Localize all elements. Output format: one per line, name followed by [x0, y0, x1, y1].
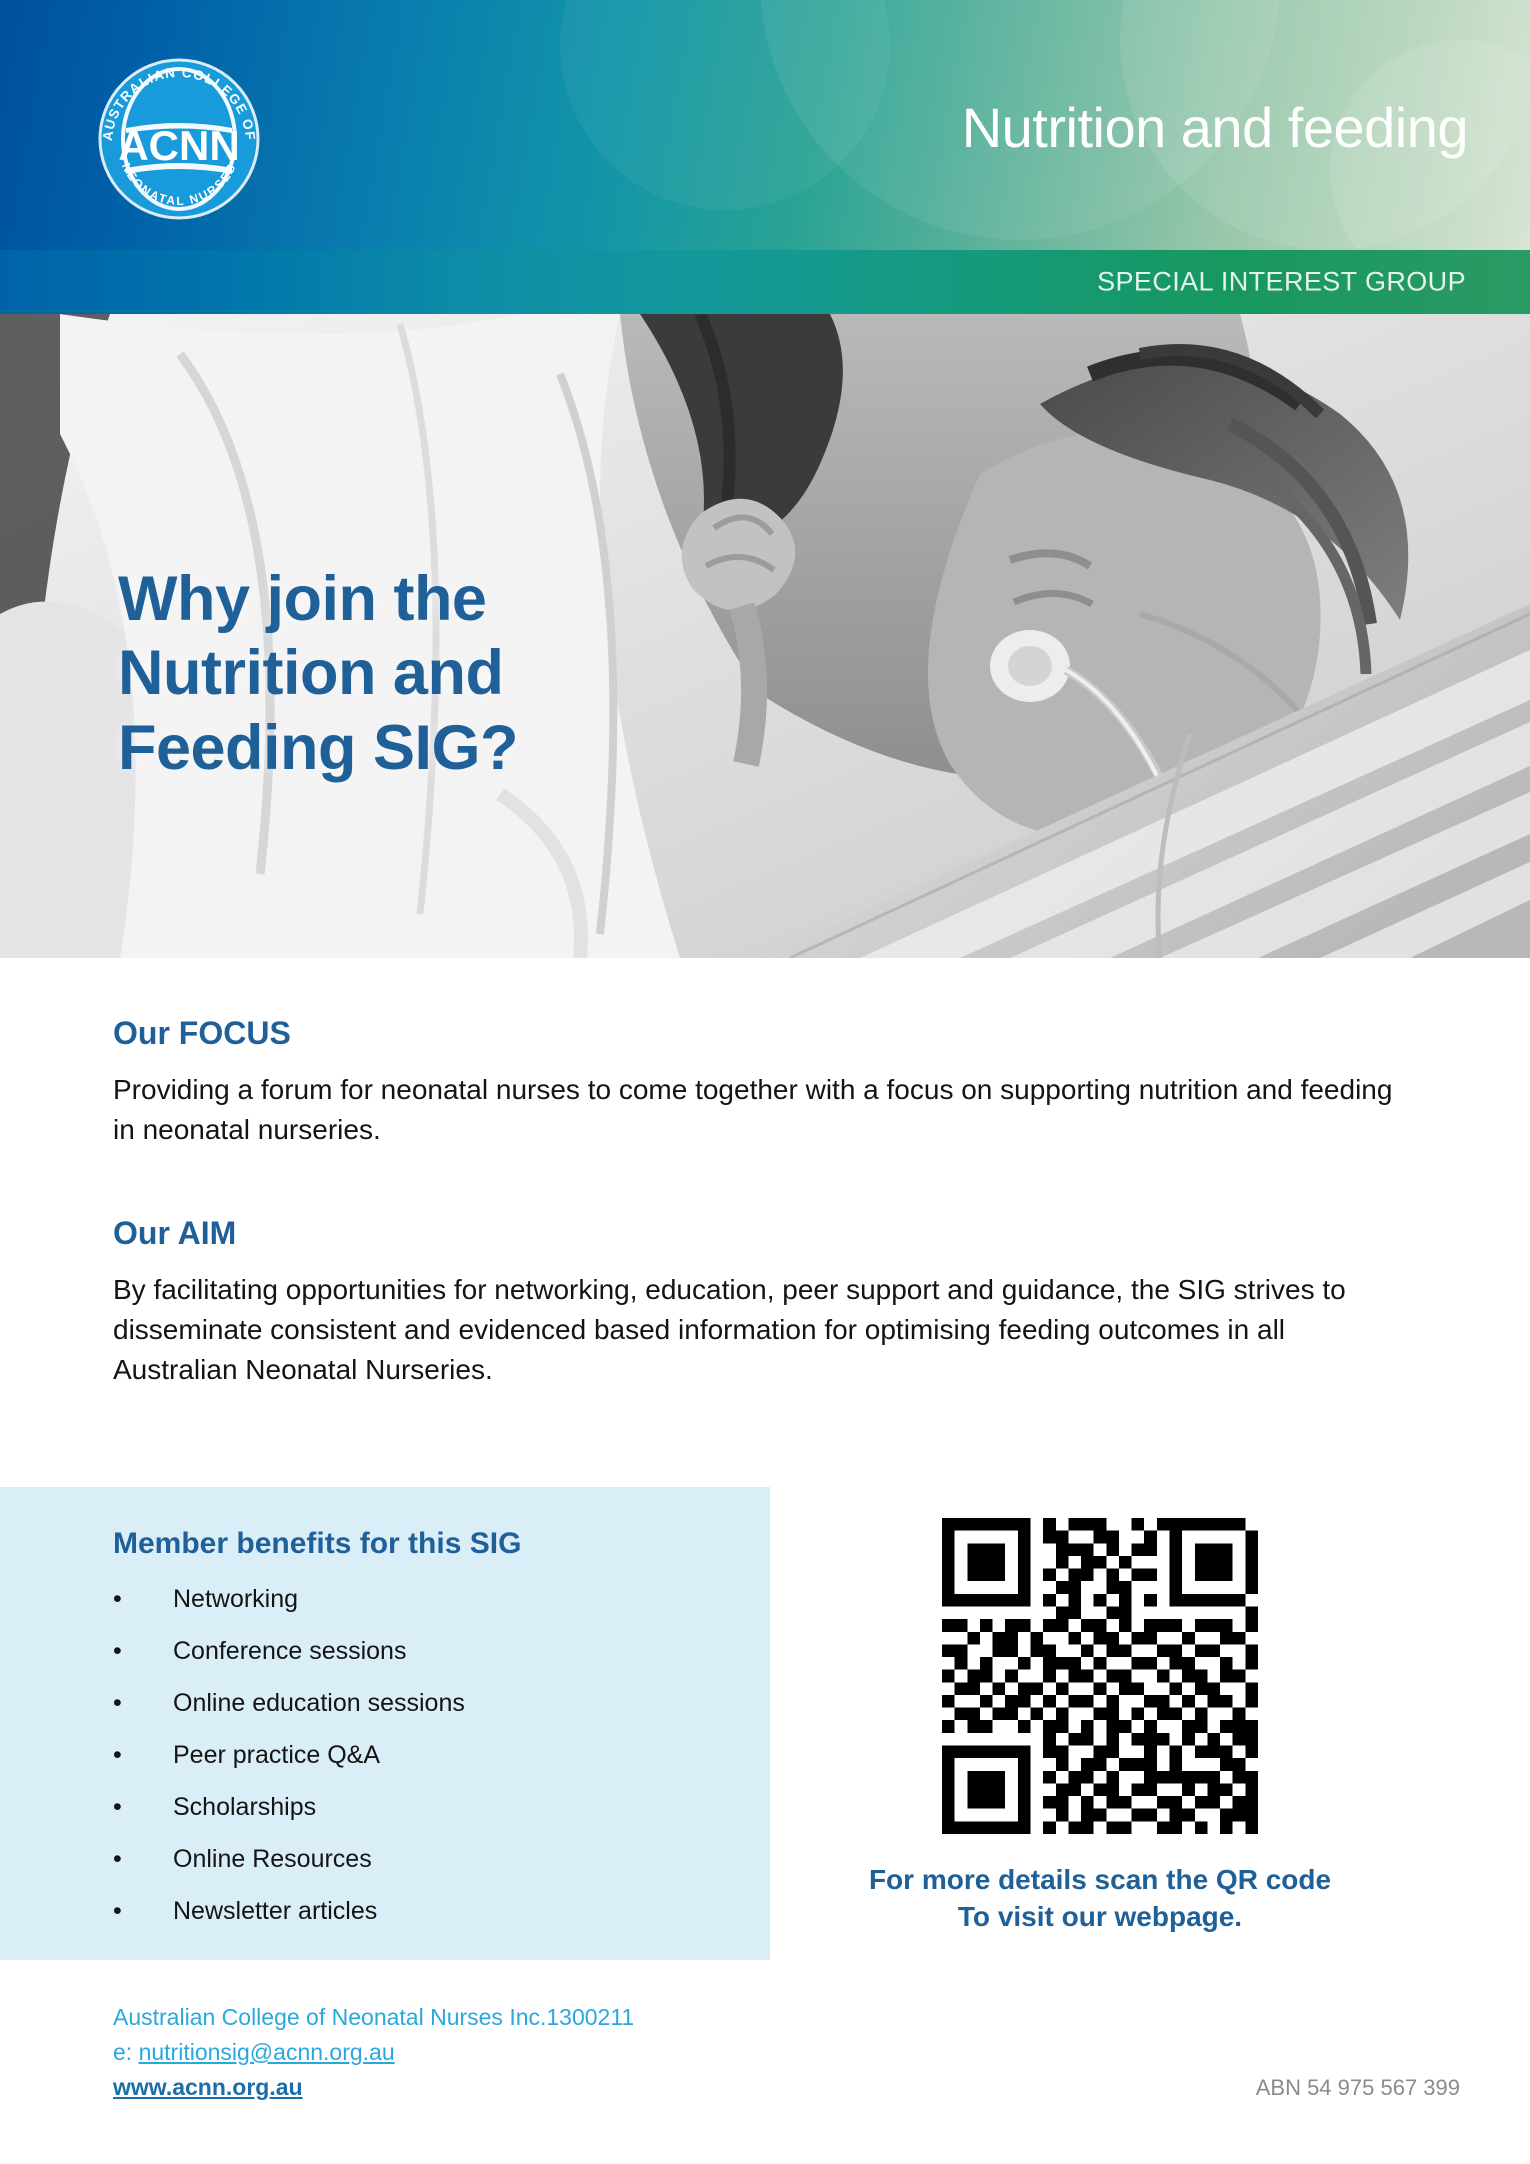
bullet-icon: • — [113, 1743, 122, 1768]
poster-page: AUSTRALIAN COLLEGE OF NEONATAL NURSES AC… — [0, 0, 1530, 2164]
our-focus-heading: Our FOCUS — [113, 1015, 1403, 1052]
section-our-focus: Our FOCUS Providing a forum for neonatal… — [113, 1015, 1403, 1150]
benefit-item-label: Networking — [173, 1585, 298, 1613]
acnn-logo: AUSTRALIAN COLLEGE OF NEONATAL NURSES AC… — [88, 48, 270, 230]
our-aim-body: By facilitating opportunities for networ… — [113, 1270, 1403, 1389]
footer-email-prefix: e: — [113, 2039, 139, 2065]
benefit-item-label: Peer practice Q&A — [173, 1741, 380, 1769]
bullet-icon: • — [113, 1899, 122, 1924]
member-benefits-list: •Networking•Conference sessions•Online e… — [113, 1587, 465, 1951]
qr-caption: For more details scan the QR code To vis… — [760, 1862, 1440, 1936]
svg-text:ACNN: ACNN — [118, 122, 239, 169]
hero-line-1: Why join the — [118, 562, 518, 636]
special-interest-group-band: SPECIAL INTEREST GROUP — [0, 250, 1530, 314]
bullet-icon: • — [113, 1587, 122, 1612]
benefit-item: •Networking — [113, 1587, 465, 1612]
page-header: AUSTRALIAN COLLEGE OF NEONATAL NURSES AC… — [0, 0, 1530, 252]
benefit-item: •Scholarships — [113, 1795, 465, 1820]
footer-website-link[interactable]: www.acnn.org.au — [113, 2074, 303, 2100]
hero-line-3: Feeding SIG? — [118, 711, 518, 785]
qr-caption-line-1: For more details scan the QR code — [760, 1862, 1440, 1899]
footer-website-row: www.acnn.org.au — [113, 2070, 634, 2105]
member-benefits-panel: Member benefits for this SIG •Networking… — [0, 1487, 770, 1960]
benefit-item-label: Online Resources — [173, 1845, 372, 1873]
page-title: Nutrition and feeding — [962, 100, 1468, 156]
our-focus-body: Providing a forum for neonatal nurses to… — [113, 1070, 1403, 1150]
benefit-item: •Newsletter articles — [113, 1899, 465, 1924]
benefit-item: •Online Resources — [113, 1847, 465, 1872]
footer-contact: Australian College of Neonatal Nurses In… — [113, 2000, 634, 2105]
benefit-item-label: Scholarships — [173, 1793, 316, 1821]
bullet-icon: • — [113, 1847, 122, 1872]
benefit-item-label: Conference sessions — [173, 1637, 406, 1665]
hero-line-2: Nutrition and — [118, 636, 518, 710]
benefit-item: •Online education sessions — [113, 1691, 465, 1716]
benefit-item: •Conference sessions — [113, 1639, 465, 1664]
qr-caption-line-2: To visit our webpage. — [760, 1899, 1440, 1936]
bullet-icon: • — [113, 1795, 122, 1820]
header-decoration-circle — [560, 0, 890, 210]
sig-band-label: SPECIAL INTEREST GROUP — [1097, 267, 1466, 298]
footer-email-link[interactable]: nutritionsig@acnn.org.au — [139, 2039, 395, 2065]
hero-heading: Why join the Nutrition and Feeding SIG? — [118, 562, 518, 785]
footer-abn: ABN 54 975 567 399 — [1256, 2075, 1460, 2101]
bullet-icon: • — [113, 1639, 122, 1664]
bullet-icon: • — [113, 1691, 122, 1716]
footer-organisation: Australian College of Neonatal Nurses In… — [113, 2000, 634, 2035]
footer-email-row: e: nutritionsig@acnn.org.au — [113, 2035, 634, 2070]
benefit-item: •Peer practice Q&A — [113, 1743, 465, 1768]
benefit-item-label: Newsletter articles — [173, 1897, 377, 1925]
member-benefits-heading: Member benefits for this SIG — [113, 1527, 521, 1561]
section-our-aim: Our AIM By facilitating opportunities fo… — [113, 1215, 1403, 1389]
benefit-item-label: Online education sessions — [173, 1689, 465, 1717]
our-aim-heading: Our AIM — [113, 1215, 1403, 1252]
qr-code[interactable] — [942, 1518, 1258, 1834]
